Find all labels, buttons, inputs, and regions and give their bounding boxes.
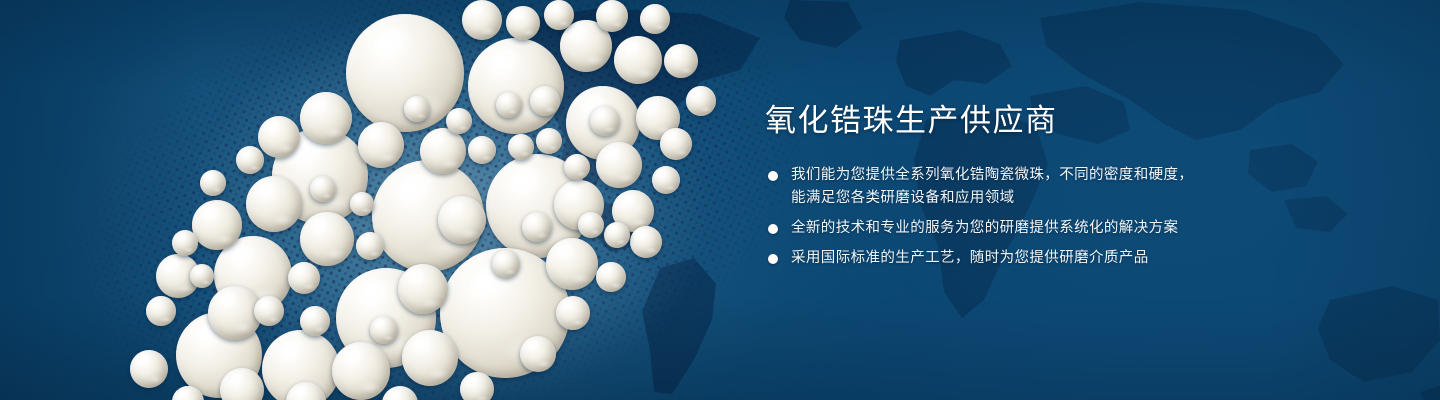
filled-circle-bullet-icon [768,254,778,264]
bead [398,264,448,314]
bead [310,176,336,202]
bead [652,166,680,194]
bead [200,170,226,196]
filled-circle-bullet-icon [768,171,778,181]
bead [462,0,502,40]
list-item-line: 全新的技术和专业的服务为您的研磨提供系统化的解决方案 [791,217,1285,240]
list-item: 全新的技术和专业的服务为您的研磨提供系统化的解决方案 [765,217,1285,240]
page-title: 氧化锆珠生产供应商 [765,104,1285,138]
bead [300,92,352,144]
bead [468,136,496,164]
list-item: 采用国际标准的生产工艺，随时为您提供研磨介质产品 [765,247,1285,270]
bead [564,154,590,180]
bead [300,212,354,266]
bead [358,122,404,168]
bead [614,36,662,84]
bead [536,128,562,154]
bead [630,226,662,258]
bead [590,106,620,136]
bead [596,0,628,32]
bead [382,386,418,400]
bead [356,232,384,260]
bead [246,176,302,232]
bead [370,316,398,344]
list-item-line: 能满足您各类研磨设备和应用领域 [791,187,1285,210]
bead [596,142,642,188]
bead [258,116,300,158]
bead [492,250,520,278]
bead [130,350,168,388]
bead [236,146,264,174]
bead [288,262,320,294]
bead [402,330,458,386]
bead [508,134,534,160]
bead [460,372,494,400]
filled-circle-bullet-icon [768,224,778,234]
list-item-line: 我们能为您提供全系列氧化锆陶瓷微珠，不同的密度和硬度， [791,164,1285,187]
bead [506,6,540,40]
bead [146,296,176,326]
bead [332,342,390,400]
bead [522,212,552,242]
bead [446,108,472,134]
bead [520,336,556,372]
bead [496,92,522,118]
feature-list: 我们能为您提供全系列氧化锆陶瓷微珠，不同的密度和硬度， 能满足您各类研磨设备和应… [765,164,1285,270]
bead [192,200,242,250]
bead [300,306,330,336]
bead [640,4,670,34]
banner-copy: 氧化锆珠生产供应商 我们能为您提供全系列氧化锆陶瓷微珠，不同的密度和硬度， 能满… [765,104,1285,270]
hero-banner: 氧化锆珠生产供应商 我们能为您提供全系列氧化锆陶瓷微珠，不同的密度和硬度， 能满… [0,0,1440,400]
bead [172,230,198,256]
bead [596,262,626,292]
bead [546,238,598,290]
bead [254,296,284,326]
bead [660,128,692,160]
bead [686,86,716,116]
bead [190,264,214,288]
zirconia-bead-cluster-image [0,0,760,400]
bead [578,212,604,238]
bead [350,192,374,216]
bead [604,222,630,248]
bead [664,44,698,78]
bead [544,0,574,30]
bead [556,296,590,330]
bead [404,96,430,122]
list-item: 我们能为您提供全系列氧化锆陶瓷微珠，不同的密度和硬度， 能满足您各类研磨设备和应… [765,164,1285,210]
list-item-line: 采用国际标准的生产工艺，随时为您提供研磨介质产品 [791,247,1285,270]
bead [420,128,466,174]
bead [438,196,486,244]
bead [530,86,560,116]
